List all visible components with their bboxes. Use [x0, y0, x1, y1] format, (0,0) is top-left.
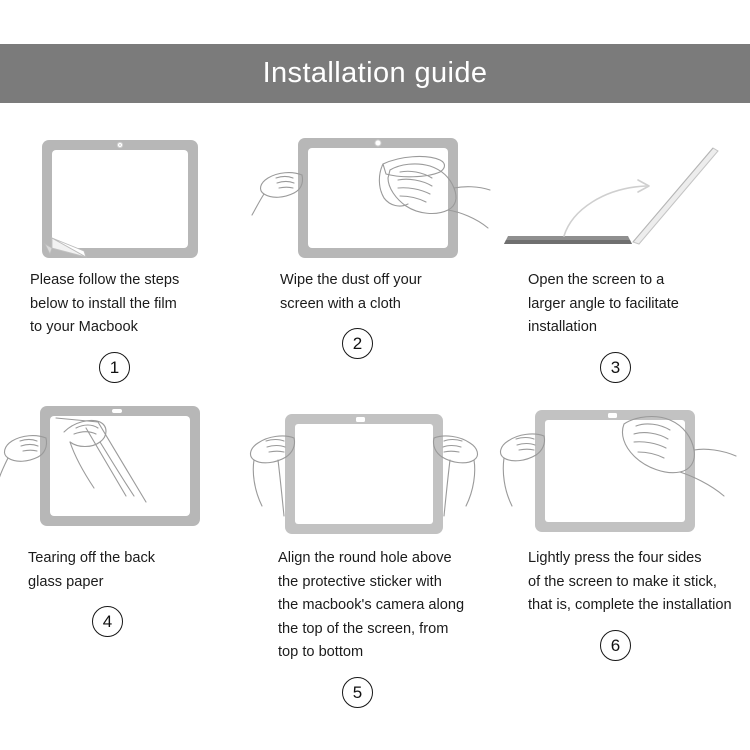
- hand-pressing-screen-edges-icon: [500, 396, 750, 541]
- page-title: Installation guide: [263, 59, 488, 88]
- screen-with-peeling-film-icon: [0, 118, 250, 263]
- step-card-3: Open the screen to a larger angle to fac…: [500, 118, 750, 386]
- step-number-badge-1: 1: [99, 352, 130, 383]
- step-number-badge-3: 3: [600, 352, 631, 383]
- steps-grid: Please follow the steps below to install…: [0, 118, 750, 721]
- step-4-caption: Tearing off the back glass paper: [0, 541, 250, 594]
- step-5-caption: Align the round hole above the protectiv…: [250, 541, 500, 665]
- step-2-badge-wrap: 2: [250, 316, 500, 362]
- step-card-5: Align the round hole above the protectiv…: [250, 396, 500, 721]
- step-number-badge-4: 4: [92, 606, 123, 637]
- step-6-illustration: [500, 396, 750, 541]
- step-card-1: Please follow the steps below to install…: [0, 118, 250, 386]
- step-4-illustration: [0, 396, 250, 541]
- step-1-illustration: [0, 118, 250, 263]
- step-card-4: Tearing off the back glass paper 4: [0, 396, 250, 721]
- step-3-illustration: [500, 118, 750, 263]
- step-1-caption: Please follow the steps below to install…: [0, 263, 250, 340]
- hands-tearing-back-paper-icon: [0, 396, 250, 541]
- step-2-illustration: [250, 118, 500, 263]
- two-hands-aligning-film-icon: [250, 396, 500, 541]
- step-card-6: Lightly press the four sides of the scre…: [500, 396, 750, 721]
- step-6-badge-wrap: 6: [500, 618, 750, 674]
- step-3-caption: Open the screen to a larger angle to fac…: [500, 263, 750, 340]
- header-banner: Installation guide: [0, 44, 750, 103]
- steps-row-2: Tearing off the back glass paper 4: [0, 396, 750, 721]
- step-5-illustration: [250, 396, 500, 541]
- step-number-badge-6: 6: [600, 630, 631, 661]
- step-number-badge-5: 5: [342, 677, 373, 708]
- step-5-badge-wrap: 5: [250, 665, 500, 721]
- step-1-badge-wrap: 1: [0, 340, 250, 386]
- step-3-badge-wrap: 3: [500, 340, 750, 386]
- steps-row-1: Please follow the steps below to install…: [0, 118, 750, 386]
- step-4-badge-wrap: 4: [0, 594, 250, 650]
- laptop-opening-angle-icon: [500, 118, 750, 263]
- step-card-2: Wipe the dust off your screen with a clo…: [250, 118, 500, 386]
- installation-guide-page: Installation guide: [0, 0, 750, 750]
- hand-wiping-screen-with-cloth-icon: [250, 118, 500, 263]
- step-number-badge-2: 2: [342, 328, 373, 359]
- step-6-caption: Lightly press the four sides of the scre…: [500, 541, 750, 618]
- step-2-caption: Wipe the dust off your screen with a clo…: [250, 263, 500, 316]
